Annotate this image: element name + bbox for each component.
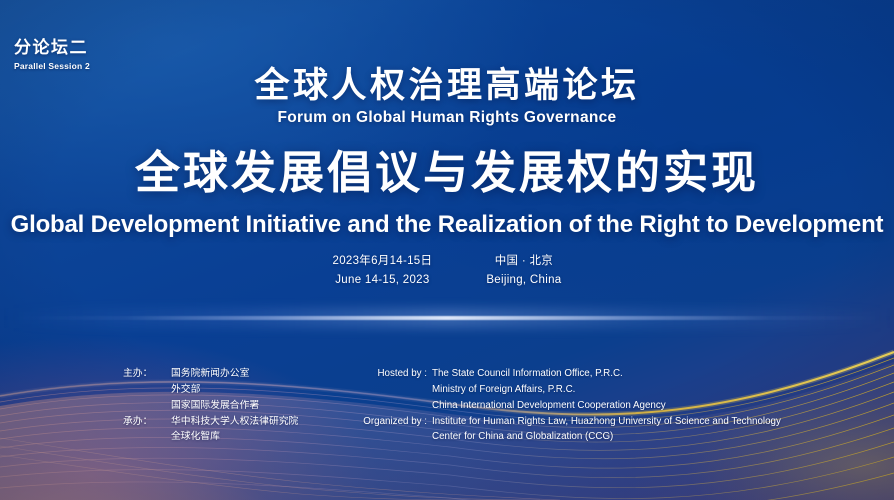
credit-row: 承办： 华中科技大学人权法律研究院 [123,414,313,430]
host-value-cn: 国家国际发展合作署 [171,398,313,414]
forum-name-cn: 全球人权治理高端论坛 [0,68,894,103]
session-badge: 分论坛二 Parallel Session 2 [14,38,90,71]
event-date-en: June 14-15, 2023 [333,271,433,290]
poster-canvas: 分论坛二 Parallel Session 2 全球人权治理高端论坛 Forum… [0,0,894,500]
credit-row: Hosted by : China International Developm… [341,398,771,414]
event-venue-en: Beijing, China [486,271,561,290]
organizer-value-cn: 华中科技大学人权法律研究院 [171,414,313,430]
event-meta: 2023年6月14-15日 June 14-15, 2023 中国 · 北京 B… [0,252,894,290]
credit-row: Organized by : Center for China and Glob… [341,429,771,445]
credit-row: Hosted by : Ministry of Foreign Affairs,… [341,382,771,398]
event-venue-cn: 中国 · 北京 [486,252,561,271]
host-value-cn: 国务院新闻办公室 [171,366,313,382]
main-title-en: Global Development Initiative and the Re… [0,211,894,239]
credit-row: 承办： 全球化智库 [123,429,313,445]
host-value-en: China International Development Cooperat… [432,398,771,414]
organizer-label-en: Organized by : [341,414,432,430]
credit-row: 主办： 国务院新闻办公室 [123,366,313,382]
organizer-value-en: Institute for Human Rights Law, Huazhong… [432,414,781,430]
forum-name-en: Forum on Global Human Rights Governance [0,109,894,127]
organizer-value-en: Center for China and Globalization (CCG) [432,429,771,445]
forum-logo: 全球人权治理高端论坛 Forum on Global Human Rights … [0,68,894,127]
event-date-cn: 2023年6月14-15日 [333,252,433,271]
host-label-en: Hosted by : [341,366,432,382]
host-label-cn: 主办： [123,366,171,382]
main-title-cn: 全球发展倡议与发展权的实现 [0,150,894,197]
credits-block: 主办： 国务院新闻办公室 主办： 外交部 主办： 国家国际发展合作署 承办： 华… [0,366,894,445]
session-label-cn: 分论坛二 [14,38,90,58]
credits-english: Hosted by : The State Council Informatio… [341,366,771,445]
credit-row: Organized by : Institute for Human Right… [341,414,771,430]
organizer-label-cn: 承办： [123,414,171,430]
host-value-en: The State Council Information Office, P.… [432,366,771,382]
event-venue: 中国 · 北京 Beijing, China [486,252,561,290]
organizer-value-cn: 全球化智库 [171,429,313,445]
credits-chinese: 主办： 国务院新闻办公室 主办： 外交部 主办： 国家国际发展合作署 承办： 华… [123,366,313,445]
event-date: 2023年6月14-15日 June 14-15, 2023 [333,252,433,290]
host-value-cn: 外交部 [171,382,313,398]
credit-row: Hosted by : The State Council Informatio… [341,366,771,382]
host-value-en: Ministry of Foreign Affairs, P.R.C. [432,382,771,398]
credit-row: 主办： 国家国际发展合作署 [123,398,313,414]
credit-row: 主办： 外交部 [123,382,313,398]
